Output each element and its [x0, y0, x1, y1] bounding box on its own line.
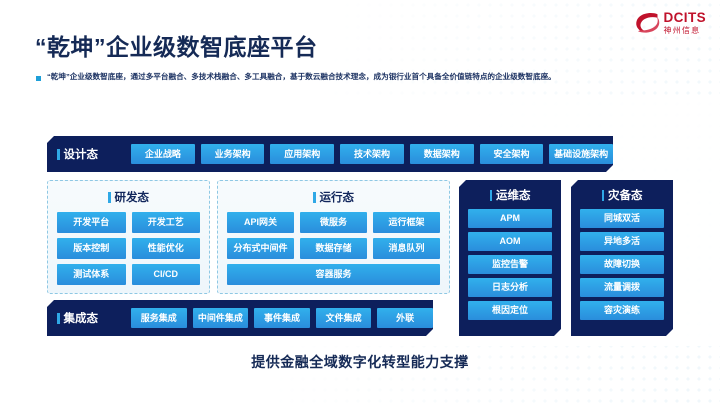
ops-layer-title: 运维态	[468, 187, 552, 203]
dev-tile[interactable]: 性能优化	[132, 238, 201, 259]
design-chip[interactable]: 安全架构	[480, 144, 544, 164]
runtime-layer-panel: 运行态 API网关 微服务 运行框架 分布式中间件 数据存储 消息队列 容器服务	[217, 180, 450, 294]
integration-chip[interactable]: 文件集成	[316, 308, 372, 328]
design-chip[interactable]: 企业战略	[131, 144, 195, 164]
dr-tile[interactable]: 故障切换	[580, 255, 664, 274]
ops-tile[interactable]: AOM	[468, 232, 552, 251]
ops-layer-title-text: 运维态	[496, 187, 531, 203]
dr-tile[interactable]: 容灾演练	[580, 301, 664, 320]
architecture-diagram: 设计态 企业战略 业务架构 应用架构 技术架构 数据架构 安全架构 基础设施架构…	[47, 136, 673, 336]
integration-chip[interactable]: 中间件集成	[193, 308, 249, 328]
dev-tile[interactable]: 测试体系	[57, 264, 126, 285]
dev-layer-tile-grid: 开发平台 开发工艺 版本控制 性能优化 测试体系 CI/CD	[57, 212, 200, 285]
subtitle-text: “乾坤”企业级数智底座，通过多平台融合、多技术栈融合、多工具融合，基于数云融合技…	[47, 72, 556, 82]
brand-logo: DCITS 神州信息	[634, 11, 707, 35]
dr-tile[interactable]: 同城双活	[580, 209, 664, 228]
dr-layer-title: 灾备态	[580, 187, 664, 203]
integration-layer-label-text: 集成态	[64, 310, 99, 326]
dev-layer-panel: 研发态 开发平台 开发工艺 版本控制 性能优化 测试体系 CI/CD	[47, 180, 210, 294]
swoosh-icon	[634, 11, 660, 35]
dr-layer-title-text: 灾备态	[608, 187, 643, 203]
runtime-tile[interactable]: 微服务	[300, 212, 367, 233]
dr-layer-column: 灾备态 同城双活 异地多活 故障切换 流量调拨 容灾演练	[571, 180, 673, 336]
dev-layer-title: 研发态	[57, 189, 200, 205]
design-chip[interactable]: 应用架构	[270, 144, 334, 164]
design-layer-bar: 设计态 企业战略 业务架构 应用架构 技术架构 数据架构 安全架构 基础设施架构	[47, 136, 613, 172]
integration-chip[interactable]: 服务集成	[131, 308, 187, 328]
dev-tile[interactable]: 开发平台	[57, 212, 126, 233]
page-title: “乾坤”企业级数智底座平台	[35, 28, 318, 62]
dev-tile[interactable]: 版本控制	[57, 238, 126, 259]
runtime-tile[interactable]: API网关	[227, 212, 294, 233]
ops-tile[interactable]: APM	[468, 209, 552, 228]
dr-layer-tile-list: 同城双活 异地多活 故障切换 流量调拨 容灾演练	[580, 209, 664, 327]
integration-layer-bar: 集成态 服务集成 中间件集成 事件集成 文件集成 外联	[47, 300, 433, 336]
design-chip[interactable]: 数据架构	[410, 144, 474, 164]
dev-tile[interactable]: CI/CD	[132, 264, 201, 285]
ops-layer-tile-list: APM AOM 监控告警 日志分析 根因定位	[468, 209, 552, 327]
dev-layer-title-text: 研发态	[115, 189, 150, 205]
slide-canvas: DCITS 神州信息 “乾坤”企业级数智底座平台 “乾坤”企业级数智底座，通过多…	[0, 0, 720, 405]
integration-layer-label: 集成态	[57, 310, 131, 326]
tick-marker-icon	[57, 313, 60, 324]
design-chip[interactable]: 技术架构	[340, 144, 404, 164]
runtime-tile[interactable]: 数据存储	[300, 238, 367, 259]
runtime-tile[interactable]: 消息队列	[373, 238, 440, 259]
ops-layer-column: 运维态 APM AOM 监控告警 日志分析 根因定位	[459, 180, 561, 336]
slide-header: DCITS 神州信息 “乾坤”企业级数智底座平台 “乾坤”企业级数智底座，通过多…	[0, 0, 720, 96]
integration-layer-chip-row: 服务集成 中间件集成 事件集成 文件集成 外联	[131, 308, 433, 328]
subtitle-row: “乾坤”企业级数智底座，通过多平台融合、多技术栈融合、多工具融合，基于数云融合技…	[36, 72, 556, 82]
square-bullet-icon	[36, 76, 41, 81]
ops-layer-column-inner: 运维态 APM AOM 监控告警 日志分析 根因定位	[459, 180, 561, 336]
dev-tile[interactable]: 开发工艺	[132, 212, 201, 233]
brand-name-cn: 神州信息	[664, 27, 707, 35]
tick-marker-icon	[313, 192, 316, 203]
ops-tile[interactable]: 监控告警	[468, 255, 552, 274]
brand-logo-text: DCITS 神州信息	[664, 11, 707, 35]
runtime-layer-title: 运行态	[227, 189, 440, 205]
runtime-tile[interactable]: 分布式中间件	[227, 238, 294, 259]
tick-marker-icon	[108, 192, 111, 203]
tick-marker-icon	[490, 190, 493, 201]
design-layer-label-text: 设计态	[64, 146, 99, 162]
design-layer-chip-row: 企业战略 业务架构 应用架构 技术架构 数据架构 安全架构 基础设施架构	[131, 144, 613, 164]
design-chip[interactable]: 业务架构	[201, 144, 265, 164]
dr-tile[interactable]: 异地多活	[580, 232, 664, 251]
ops-tile[interactable]: 日志分析	[468, 278, 552, 297]
integration-chip[interactable]: 外联	[377, 308, 433, 328]
footer-tagline: 提供金融全域数字化转型能力支撑	[0, 352, 720, 372]
runtime-tile-container-service[interactable]: 容器服务	[227, 264, 440, 285]
design-chip[interactable]: 基础设施架构	[549, 144, 613, 164]
design-layer-label: 设计态	[57, 146, 131, 162]
tick-marker-icon	[602, 190, 605, 201]
runtime-layer-title-text: 运行态	[320, 189, 355, 205]
runtime-tile[interactable]: 运行框架	[373, 212, 440, 233]
tick-marker-icon	[57, 149, 60, 160]
integration-chip[interactable]: 事件集成	[254, 308, 310, 328]
runtime-layer-tile-grid: API网关 微服务 运行框架 分布式中间件 数据存储 消息队列 容器服务	[227, 212, 440, 285]
dr-tile[interactable]: 流量调拨	[580, 278, 664, 297]
ops-tile[interactable]: 根因定位	[468, 301, 552, 320]
dr-layer-column-inner: 灾备态 同城双活 异地多活 故障切换 流量调拨 容灾演练	[571, 180, 673, 336]
brand-name-en: DCITS	[664, 11, 707, 25]
